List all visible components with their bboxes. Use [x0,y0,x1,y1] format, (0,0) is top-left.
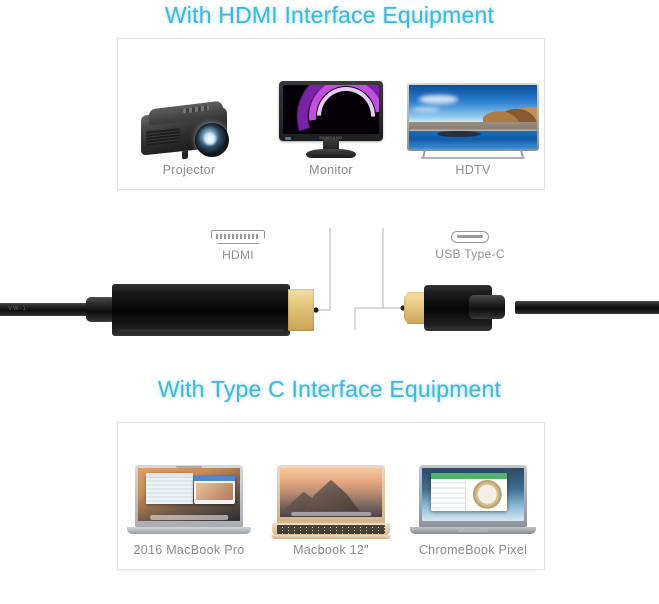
product-diagram: With HDMI Interface Equipment Projector [0,0,659,604]
device-macbook-pro: 2016 MacBook Pro [118,423,260,569]
hdmi-port-icon [211,230,265,244]
usb-type-c-port-icon [451,231,489,243]
hdtv-art [402,39,544,163]
macbook-pro-icon [129,465,249,539]
device-label-macbook-12: Macbook 12" [293,543,369,557]
device-label-projector: Projector [163,163,216,177]
device-label-macbook-pro: 2016 MacBook Pro [133,543,244,557]
type-c-device-list: 2016 MacBook Pro [118,423,544,569]
projector-art [118,39,260,163]
device-monitor: SAMSUNG Monitor [260,39,402,189]
chromebook-pixel-art [402,423,544,543]
macbook-12-art [260,423,402,543]
chromebook-pixel-icon [413,465,533,539]
device-label-hdtv: HDTV [455,163,490,177]
type-c-section-title: With Type C Interface Equipment [0,376,659,403]
device-macbook-12: Macbook 12" [260,423,402,569]
hdmi-port-callout: HDMI [168,230,308,262]
cable-marking-text: VW-1 [8,306,27,312]
device-chromebook-pixel: ChromeBook Pixel [402,423,544,569]
hdmi-connector-gold-plug [288,289,314,331]
usb-type-c-leader-line [355,308,400,330]
projector-icon [139,101,239,159]
cable-wire-right [515,301,659,314]
device-label-monitor: Monitor [309,163,353,177]
usb-type-c-leader-line-upper [383,228,400,308]
hdmi-leader-line [319,228,330,310]
hdtv-icon [407,83,539,159]
hdmi-connector-shell [112,284,290,336]
device-hdtv: HDTV [402,39,544,189]
usb-type-c-port-label: USB Type-C [400,247,540,261]
hdmi-port-label: HDMI [168,248,308,262]
macbook-pro-art [118,423,260,543]
hdmi-device-list: Projector SAMSUNG [118,39,544,189]
type-c-device-panel: 2016 MacBook Pro [117,422,545,570]
hdmi-section-title: With HDMI Interface Equipment [0,2,659,29]
device-label-chromebook-pixel: ChromeBook Pixel [419,543,527,557]
monitor-icon: SAMSUNG [279,81,383,159]
cable-strain-relief-right [469,295,505,319]
usb-type-c-port-callout: USB Type-C [400,230,540,261]
device-projector: Projector [118,39,260,189]
monitor-art: SAMSUNG [260,39,402,163]
hdmi-leader-dot [313,307,318,312]
hdmi-device-panel: Projector SAMSUNG [117,38,545,190]
macbook-12-icon [271,465,391,539]
